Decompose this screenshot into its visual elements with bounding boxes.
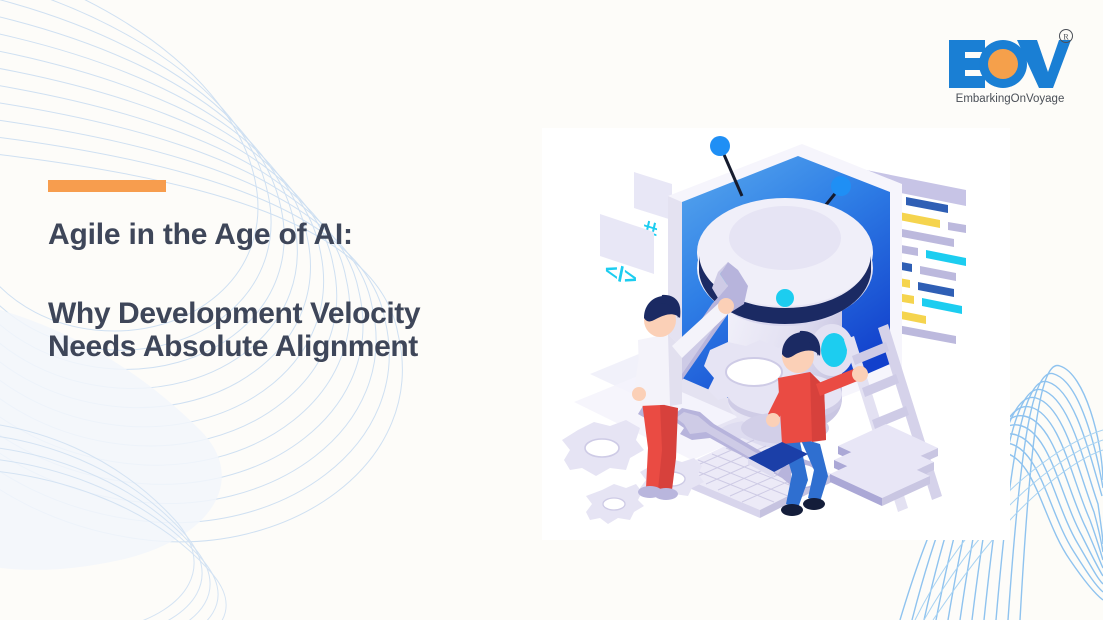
hero-text-block: Agile in the Age of AI: Why Development … — [48, 180, 508, 364]
lower-left-strands — [0, 420, 226, 620]
logo-tagline: EmbarkingOnVoyage — [956, 93, 1065, 105]
svg-text:R: R — [1063, 33, 1069, 42]
subtitle-line-1: Why Development Velocity — [48, 297, 508, 331]
marketing-banner: Agile in the Age of AI: Why Development … — [0, 0, 1103, 620]
illustration-panel: # </> — [542, 128, 1010, 540]
page-title: Agile in the Age of AI: — [48, 218, 508, 253]
accent-bar — [48, 180, 166, 192]
registered-mark: R — [1060, 30, 1073, 43]
subtitle-line-2: Needs Absolute Alignment — [48, 330, 508, 364]
page-subtitle: Why Development Velocity Needs Absolute … — [48, 297, 508, 364]
logo-letter-o — [979, 40, 1027, 88]
brand-logo[interactable]: R EmbarkingOnVoyage — [945, 28, 1075, 106]
